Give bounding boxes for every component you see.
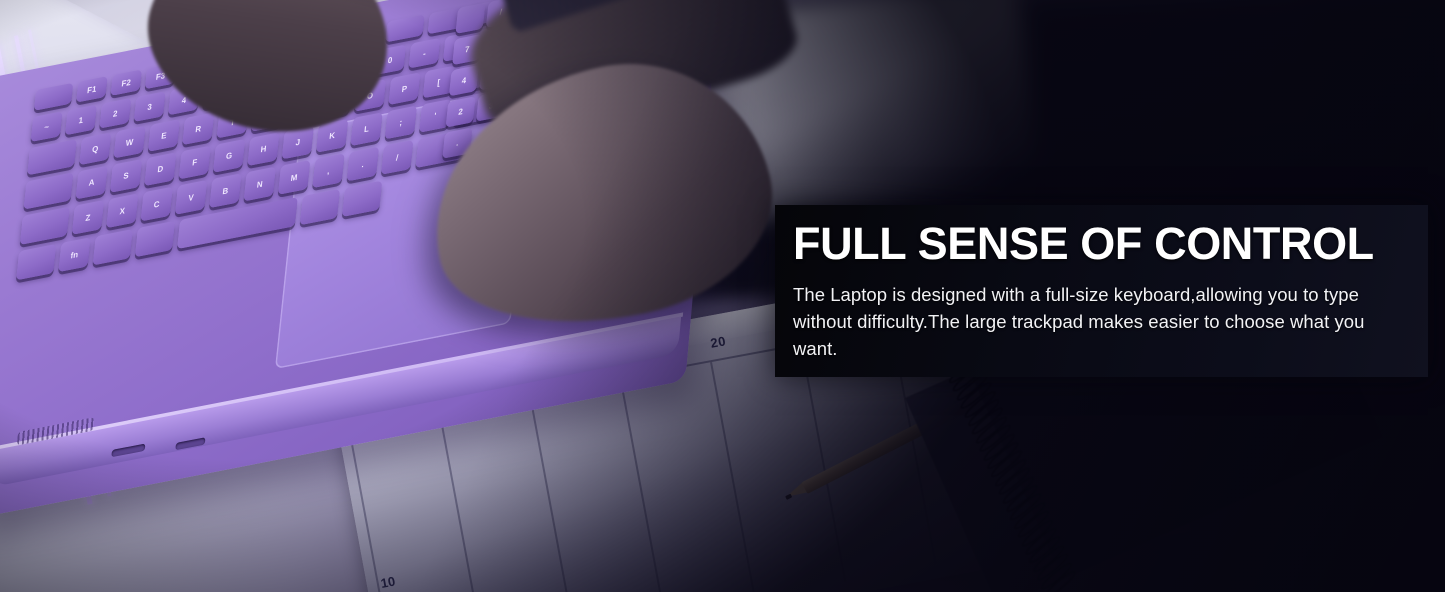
keyboard-key[interactable]: C <box>140 187 173 222</box>
keyboard-key[interactable]: L <box>350 112 382 146</box>
blurred-dark-area <box>1025 0 1445 230</box>
keyboard-key[interactable]: N <box>244 167 277 202</box>
keyboard-key[interactable]: A <box>75 166 107 200</box>
keyboard-key[interactable]: fn <box>58 237 91 272</box>
keyboard-key[interactable]: B <box>209 173 242 208</box>
keyboard-key[interactable] <box>23 172 73 209</box>
keyboard-key[interactable]: V <box>175 180 208 215</box>
keyboard-key[interactable]: X <box>106 193 139 228</box>
keyboard-key[interactable]: ; <box>385 106 417 140</box>
keyboard-key[interactable] <box>27 139 77 175</box>
keyboard-key[interactable]: - <box>408 38 440 69</box>
keyboard-key[interactable]: . <box>347 147 380 182</box>
keyboard-key[interactable] <box>300 189 340 225</box>
keyboard-key[interactable]: Q <box>79 132 111 165</box>
keyboard-key[interactable]: S <box>110 159 142 193</box>
keyboard-key[interactable]: R <box>182 112 214 145</box>
keyboard-key[interactable]: , <box>312 153 345 188</box>
keyboard-key[interactable]: 3 <box>134 91 166 122</box>
keyboard-key[interactable]: M <box>278 160 311 195</box>
keyboard-key[interactable]: H <box>247 132 279 166</box>
keyboard-key[interactable]: P <box>388 72 420 105</box>
marketing-text-panel: FULL SENSE OF CONTROL The Laptop is desi… <box>775 205 1428 377</box>
product-banner: 0510152025303540 10 F1F2F3F4F5F6F <box>0 0 1445 592</box>
keyboard-key[interactable] <box>342 181 382 217</box>
keyboard-key[interactable]: W <box>113 126 145 159</box>
keyboard-key[interactable] <box>20 207 70 245</box>
keyboard-key[interactable]: / <box>381 140 414 175</box>
keyboard-key[interactable] <box>16 244 56 280</box>
keyboard-key[interactable]: G <box>213 139 245 173</box>
keyboard-key[interactable] <box>135 221 175 257</box>
keyboard-key[interactable]: D <box>144 152 176 186</box>
keyboard-key[interactable]: 1 <box>65 105 97 136</box>
keyboard-key[interactable]: F <box>179 146 211 180</box>
keyboard-key[interactable]: E <box>148 119 180 152</box>
keyboard-key[interactable]: ~ <box>31 111 63 142</box>
keyboard-key[interactable]: Z <box>72 200 105 235</box>
banner-body-copy: The Laptop is designed with a full-size … <box>793 281 1401 362</box>
keyboard-key[interactable] <box>93 229 133 265</box>
keyboard-key[interactable]: 2 <box>99 98 131 129</box>
numpad-key[interactable]: 2 <box>446 96 476 127</box>
banner-headline: FULL SENSE OF CONTROL <box>793 221 1402 267</box>
